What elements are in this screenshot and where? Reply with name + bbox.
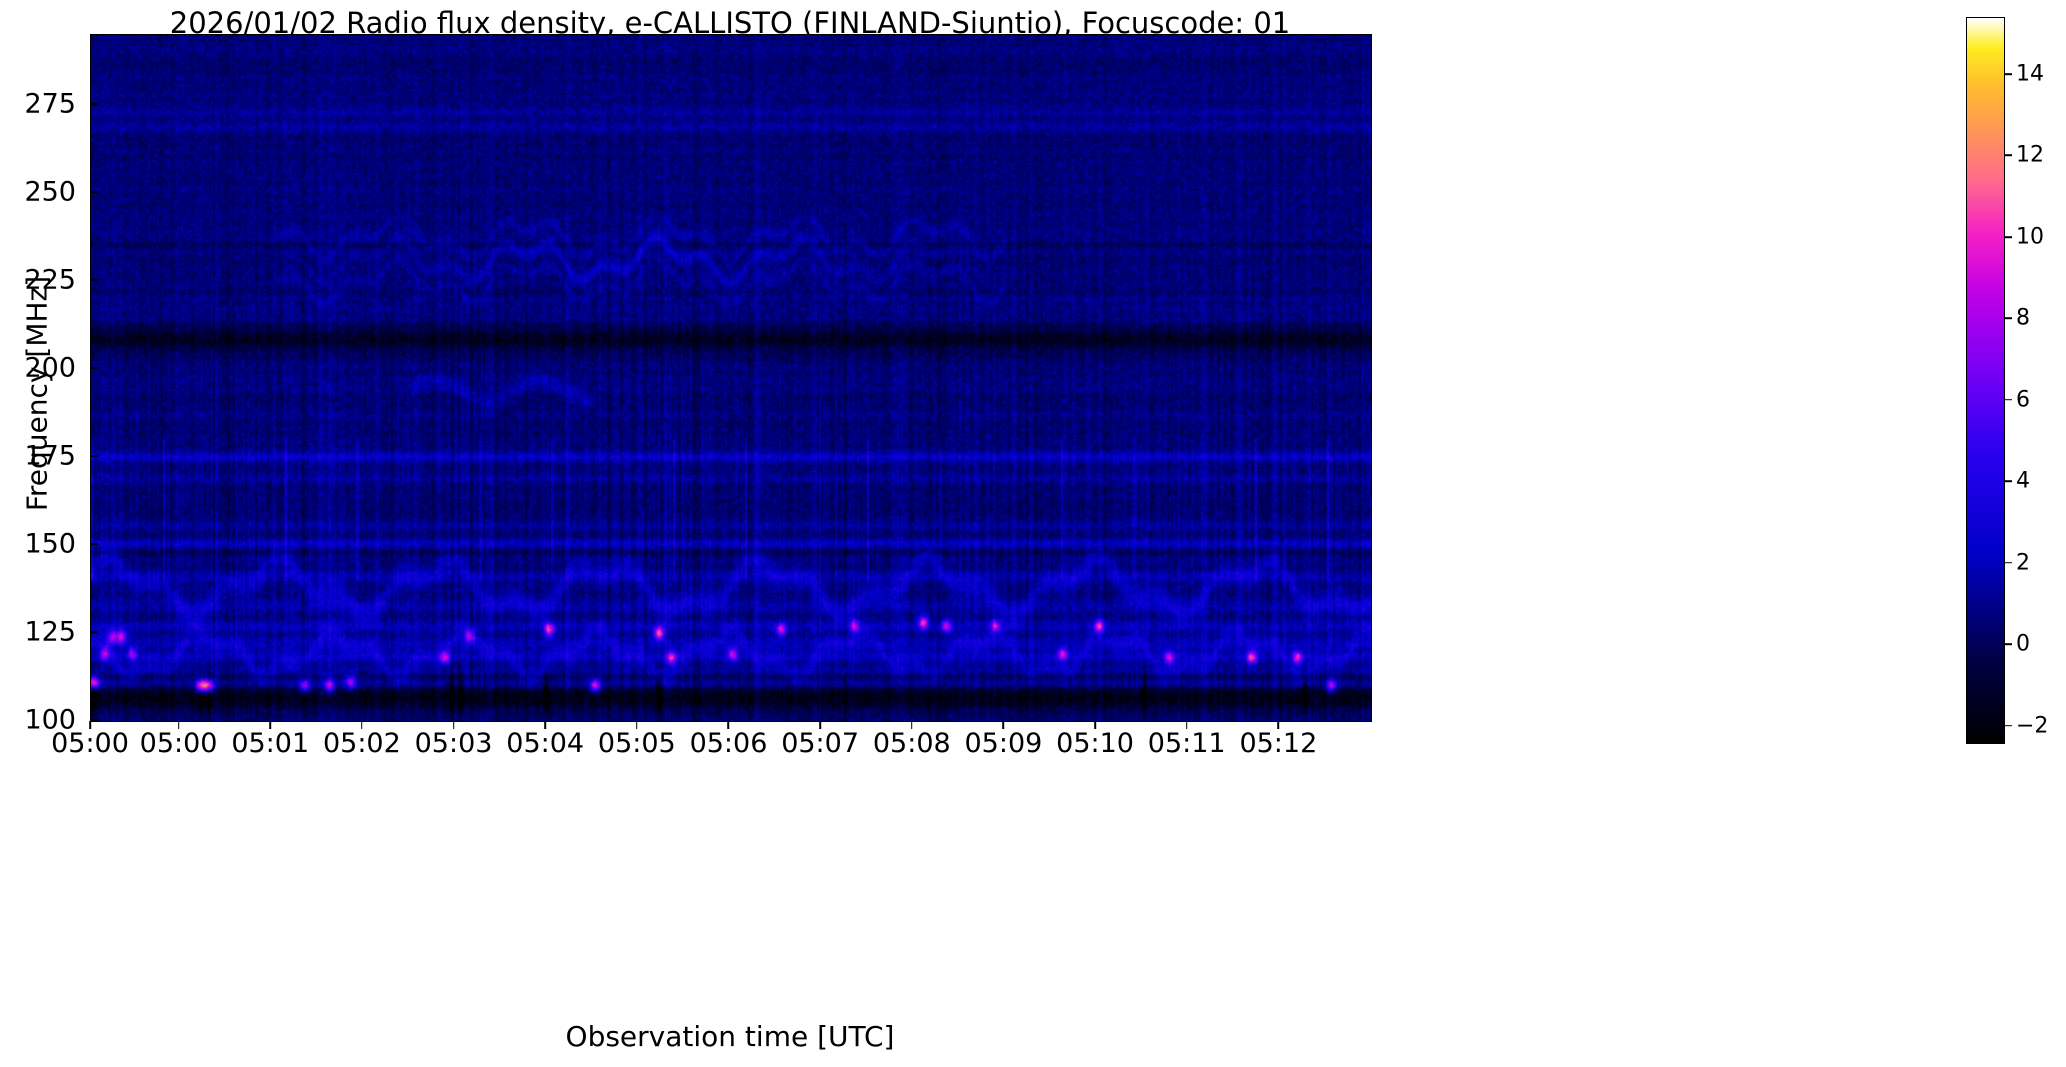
x-tick-label: 05:11 xyxy=(1148,728,1226,759)
x-tick-mark xyxy=(544,721,546,729)
x-tick-label: 05:09 xyxy=(965,728,1043,759)
colorbar-tick-label: 2 xyxy=(2016,550,2030,575)
x-tick-label: 05:04 xyxy=(506,728,584,759)
x-tick-mark xyxy=(728,721,730,729)
colorbar-tick-mark xyxy=(2005,236,2012,238)
colorbar-tick-label: 4 xyxy=(2016,469,2030,494)
x-tick-mark xyxy=(819,721,821,729)
x-tick-mark xyxy=(89,721,91,729)
x-tick-mark xyxy=(1278,721,1280,729)
x-tick-mark xyxy=(361,721,363,729)
x-tick-label: 05:01 xyxy=(231,728,309,759)
colorbar-tick-mark xyxy=(2005,562,2012,564)
colorbar-tick-mark xyxy=(2005,643,2012,645)
x-tick-label: 05:08 xyxy=(873,728,951,759)
colorbar-tick-label: 10 xyxy=(2016,224,2044,249)
x-tick-mark xyxy=(453,721,455,729)
colorbar-tick-label: −2 xyxy=(2016,713,2048,738)
colorbar-tick-mark xyxy=(2005,73,2012,75)
colorbar-gradient xyxy=(1967,18,2004,743)
colorbar-tick-label: 0 xyxy=(2016,632,2030,657)
colorbar-tick-label: 12 xyxy=(2016,143,2044,168)
x-tick-label: 05:07 xyxy=(781,728,859,759)
colorbar-tick-label: 14 xyxy=(2016,62,2044,87)
x-tick-label: 05:00 xyxy=(51,728,129,759)
x-axis-ticks: 05:0005:0005:0105:0205:0305:0405:0505:06… xyxy=(0,0,2066,1067)
x-tick-mark xyxy=(1094,721,1096,729)
x-tick-label: 05:02 xyxy=(323,728,401,759)
x-tick-mark xyxy=(911,721,913,729)
x-tick-label: 05:00 xyxy=(140,728,218,759)
x-tick-mark xyxy=(636,721,638,729)
x-tick-mark xyxy=(178,721,180,729)
x-axis-label: Observation time [UTC] xyxy=(90,1020,1370,1053)
colorbar-tick-mark xyxy=(2005,155,2012,157)
x-tick-mark xyxy=(269,721,271,729)
x-tick-label: 05:10 xyxy=(1056,728,1134,759)
colorbar-tick-mark xyxy=(2005,399,2012,401)
colorbar-tick-label: 8 xyxy=(2016,306,2030,331)
x-tick-mark xyxy=(1186,721,1188,729)
x-tick-label: 05:06 xyxy=(690,728,768,759)
spectrogram-figure: 2026/01/02 Radio flux density, e-CALLIST… xyxy=(0,0,2066,1067)
colorbar-tick-mark xyxy=(2005,725,2012,727)
colorbar-tick-mark xyxy=(2005,318,2012,320)
x-tick-label: 05:12 xyxy=(1239,728,1317,759)
x-tick-label: 05:05 xyxy=(598,728,676,759)
colorbar-tick-label: 6 xyxy=(2016,387,2030,412)
x-tick-label: 05:03 xyxy=(415,728,493,759)
colorbar-tick-mark xyxy=(2005,481,2012,483)
x-tick-mark xyxy=(1003,721,1005,729)
colorbar xyxy=(1966,17,2005,744)
